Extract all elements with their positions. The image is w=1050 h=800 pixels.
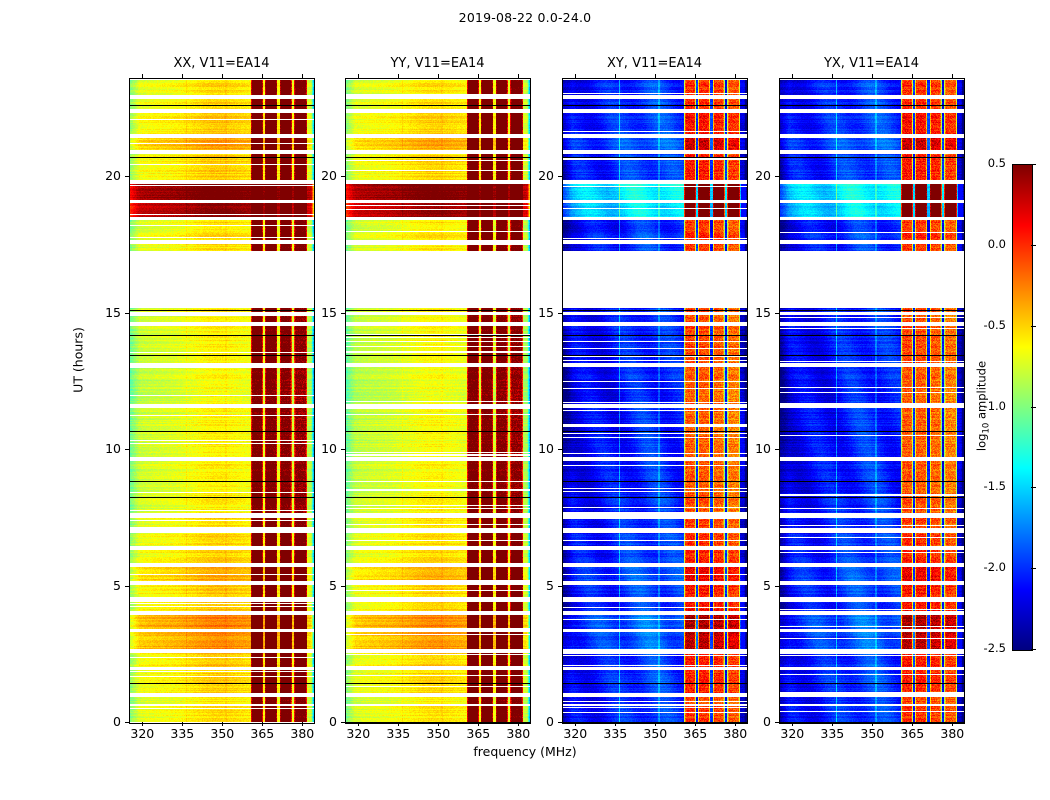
- y-tick-mark: [125, 176, 129, 177]
- x-tick-mark-top: [142, 74, 143, 78]
- y-tick-mark: [558, 313, 562, 314]
- colorbar-tick-mark: [1031, 487, 1036, 488]
- x-tick-mark-top: [518, 74, 519, 78]
- colorbar-tick-label: -1.5: [966, 479, 1006, 493]
- y-tick-mark: [775, 722, 779, 723]
- x-tick-mark-top: [262, 74, 263, 78]
- x-tick-label: 320: [555, 726, 595, 741]
- heatmap-yy: [346, 79, 530, 723]
- panel-xy[interactable]: [562, 78, 748, 724]
- heatmap-yx: [780, 79, 964, 723]
- x-tick-label: 335: [595, 726, 635, 741]
- x-tick-mark-top: [832, 74, 833, 78]
- y-tick-label: 5: [87, 578, 121, 593]
- y-tick-mark: [558, 586, 562, 587]
- y-tick-label: 10: [303, 441, 337, 456]
- x-tick-label: 335: [378, 726, 418, 741]
- colorbar-tick-label: -1.0: [966, 399, 1006, 413]
- y-tick-mark: [775, 313, 779, 314]
- x-tick-mark-top: [302, 74, 303, 78]
- x-tick-label: 335: [162, 726, 202, 741]
- x-tick-label: 320: [338, 726, 378, 741]
- colorbar: [1012, 164, 1033, 651]
- colorbar-tick-mark: [1031, 407, 1036, 408]
- heatmap-xy: [563, 79, 747, 723]
- y-tick-label: 15: [87, 305, 121, 320]
- y-tick-label: 5: [303, 578, 337, 593]
- y-tick-mark: [558, 722, 562, 723]
- x-tick-label: 365: [458, 726, 498, 741]
- y-tick-label: 10: [737, 441, 771, 456]
- y-axis-label: UT (hours): [71, 327, 86, 393]
- y-tick-mark: [775, 449, 779, 450]
- y-tick-label: 0: [303, 714, 337, 729]
- y-tick-label: 15: [520, 305, 554, 320]
- colorbar-tick-mark: [1031, 649, 1036, 650]
- x-tick-mark-top: [615, 74, 616, 78]
- panel-xx[interactable]: [129, 78, 315, 724]
- y-tick-mark: [125, 586, 129, 587]
- x-tick-label: 365: [675, 726, 715, 741]
- x-tick-mark-top: [358, 74, 359, 78]
- x-tick-label: 365: [242, 726, 282, 741]
- y-tick-mark: [558, 449, 562, 450]
- y-tick-label: 20: [303, 168, 337, 183]
- colorbar-tick-label: 0.0: [966, 237, 1006, 251]
- y-tick-mark: [341, 586, 345, 587]
- y-tick-mark: [341, 313, 345, 314]
- x-tick-label: 380: [932, 726, 972, 741]
- x-tick-mark-top: [695, 74, 696, 78]
- colorbar-tick-label: 0.5: [966, 156, 1006, 170]
- y-tick-label: 15: [303, 305, 337, 320]
- panel-yy[interactable]: [345, 78, 531, 724]
- x-tick-label: 350: [635, 726, 675, 741]
- x-tick-mark-top: [575, 74, 576, 78]
- colorbar-tick-mark: [1031, 164, 1036, 165]
- x-tick-mark-top: [655, 74, 656, 78]
- y-tick-mark: [341, 722, 345, 723]
- y-tick-mark: [775, 176, 779, 177]
- y-tick-label: 5: [737, 578, 771, 593]
- colorbar-tick-mark: [1031, 326, 1036, 327]
- y-tick-label: 5: [520, 578, 554, 593]
- x-tick-label: 335: [812, 726, 852, 741]
- x-tick-mark-top: [792, 74, 793, 78]
- x-tick-label: 350: [852, 726, 892, 741]
- y-tick-label: 15: [737, 305, 771, 320]
- x-tick-mark-top: [912, 74, 913, 78]
- y-tick-mark: [125, 449, 129, 450]
- colorbar-tick-mark: [1031, 245, 1036, 246]
- panel-title-yx: YX, V11=EA14: [779, 56, 964, 74]
- x-tick-mark-top: [222, 74, 223, 78]
- y-tick-label: 20: [520, 168, 554, 183]
- panel-yx[interactable]: [779, 78, 965, 724]
- x-tick-label: 320: [122, 726, 162, 741]
- x-tick-mark-top: [952, 74, 953, 78]
- y-tick-label: 20: [737, 168, 771, 183]
- x-tick-mark-top: [478, 74, 479, 78]
- y-tick-label: 10: [87, 441, 121, 456]
- y-tick-mark: [341, 449, 345, 450]
- x-tick-label: 350: [202, 726, 242, 741]
- x-tick-mark-top: [438, 74, 439, 78]
- colorbar-tick-mark: [1031, 568, 1036, 569]
- y-tick-mark: [558, 176, 562, 177]
- heatmap-xx: [130, 79, 314, 723]
- panel-title-yy: YY, V11=EA14: [345, 56, 530, 74]
- y-tick-label: 0: [87, 714, 121, 729]
- figure-canvas: 2019-08-22 0.0-24.0 XX, V11=EA14 YY, V11…: [0, 0, 1050, 800]
- x-tick-mark-top: [182, 74, 183, 78]
- y-tick-label: 10: [520, 441, 554, 456]
- x-tick-mark-top: [735, 74, 736, 78]
- x-tick-label: 365: [892, 726, 932, 741]
- y-tick-label: 0: [520, 714, 554, 729]
- y-tick-label: 0: [737, 714, 771, 729]
- x-axis-label: frequency (MHz): [0, 744, 1050, 759]
- x-tick-mark-top: [872, 74, 873, 78]
- figure-suptitle: 2019-08-22 0.0-24.0: [0, 10, 1050, 25]
- x-tick-label: 350: [418, 726, 458, 741]
- y-tick-mark: [341, 176, 345, 177]
- x-tick-label: 320: [772, 726, 812, 741]
- y-tick-mark: [125, 313, 129, 314]
- y-tick-mark: [125, 722, 129, 723]
- x-tick-mark-top: [398, 74, 399, 78]
- colorbar-tick-label: -2.5: [966, 641, 1006, 655]
- y-tick-label: 20: [87, 168, 121, 183]
- panel-title-xx: XX, V11=EA14: [129, 56, 314, 74]
- y-tick-mark: [775, 586, 779, 587]
- panel-title-xy: XY, V11=EA14: [562, 56, 747, 74]
- colorbar-tick-label: -2.0: [966, 560, 1006, 574]
- colorbar-tick-label: -0.5: [966, 318, 1006, 332]
